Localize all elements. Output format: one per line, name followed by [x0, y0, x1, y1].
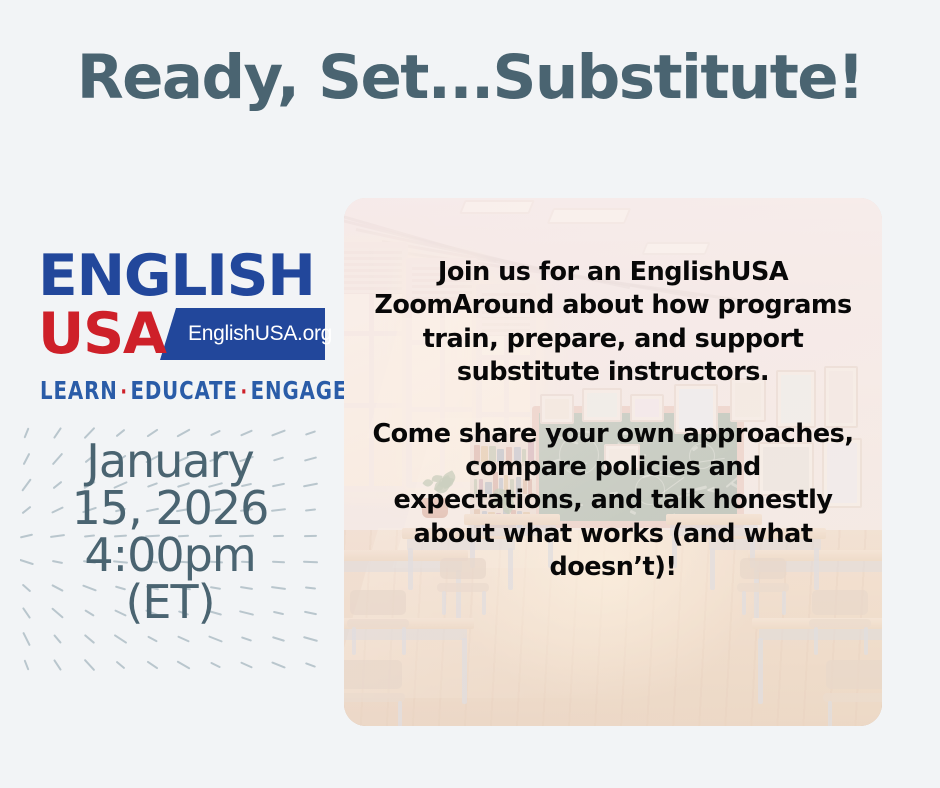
- logo-tagline: LEARN·EDUCATE·ENGAGE: [40, 376, 347, 405]
- logo-second-row: USA EnglishUSA.org: [38, 306, 324, 362]
- date-line-4: (ET): [125, 579, 214, 626]
- date-line-3: 4:00pm: [84, 532, 255, 579]
- englishusa-logo: ENGLISH USA EnglishUSA.org LEARN·EDUCATE…: [38, 248, 324, 408]
- tagline-separator-1: ·: [118, 380, 131, 405]
- tagline-item-engage: ENGAGE: [251, 376, 348, 405]
- promo-poster: Ready, Set...Substitute! ENGLISH USA Eng…: [0, 0, 940, 788]
- event-description-card: Join us for an EnglishUSA ZoomAround abo…: [344, 198, 882, 726]
- tagline-item-learn: LEARN: [40, 376, 118, 405]
- card-paragraph-2: Come share your own approaches, compare …: [370, 418, 856, 585]
- page-title: Ready, Set...Substitute!: [0, 44, 940, 111]
- date-line-2: 15, 2026: [72, 485, 269, 532]
- left-column: ENGLISH USA EnglishUSA.org LEARN·EDUCATE…: [0, 196, 344, 726]
- tagline-separator-2: ·: [238, 380, 251, 405]
- logo-url-text: EnglishUSA.org: [188, 322, 332, 346]
- card-paragraph-1: Join us for an EnglishUSA ZoomAround abo…: [370, 256, 856, 390]
- event-date-text: January 15, 2026 4:00pm (ET): [20, 426, 320, 676]
- date-line-1: January: [86, 438, 253, 485]
- event-date-block: January 15, 2026 4:00pm (ET): [20, 426, 320, 676]
- logo-word-english: ENGLISH: [38, 248, 315, 305]
- card-body-text: Join us for an EnglishUSA ZoomAround abo…: [370, 256, 856, 585]
- logo-word-usa: USA: [38, 306, 166, 363]
- tagline-item-educate: EDUCATE: [130, 376, 237, 405]
